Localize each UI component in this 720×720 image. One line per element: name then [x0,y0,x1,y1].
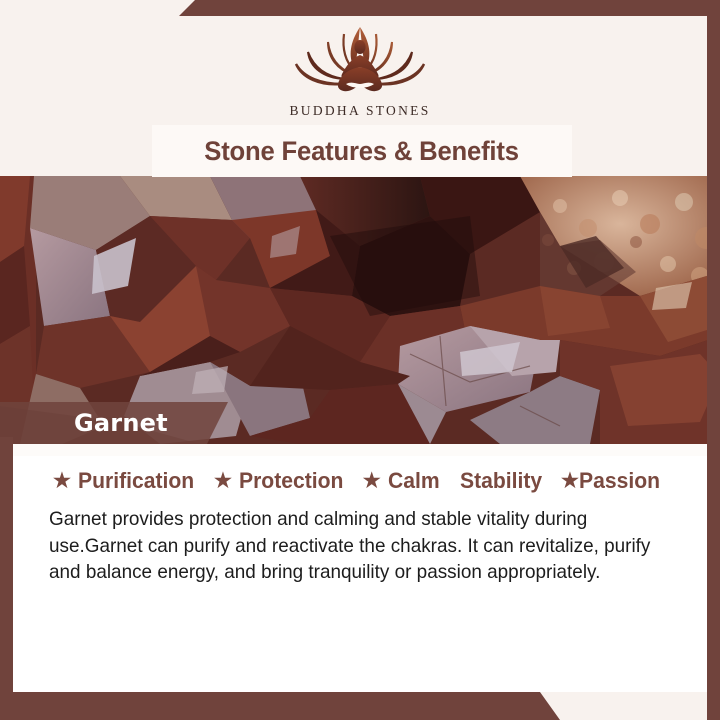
star-icon: ★ [214,471,232,491]
benefit-item: ★Protection [214,468,348,494]
benefit-item: ★Purification [53,468,199,494]
brand-logo: BUDDHA STONES [13,22,707,119]
benefit-label: Calm [388,468,440,494]
star-icon: ★ [561,471,579,491]
stone-name-label: Garnet [74,409,168,437]
benefit-item: ★Passion [561,468,663,494]
description-text: Garnet provides protection and calming a… [49,506,664,586]
infographic-page: Garnet [0,0,720,720]
brand-name: BUDDHA STONES [289,103,430,119]
frame-bottom-band [0,692,720,720]
benefit-label: Protection [239,468,343,494]
lotus-meditation-icon [284,22,436,100]
benefit-item: Stability [460,468,546,494]
frame-right-band [707,0,720,720]
page-title: Stone Features & Benefits [205,136,520,167]
frame-top-band [0,0,720,16]
stone-name-banner: Garnet [0,402,228,444]
star-icon: ★ [53,471,71,491]
benefits-list: ★Purification★Protection★CalmStability★P… [53,468,689,494]
benefit-label: Purification [78,468,194,494]
benefit-label: Passion [579,468,660,494]
benefit-item: ★Calm [363,468,442,494]
star-icon: ★ [363,471,381,491]
benefit-label: Stability [460,468,542,494]
content-panel: ★Purification★Protection★CalmStability★P… [13,444,707,692]
title-banner: Stone Features & Benefits [152,125,572,177]
frame-left-band [0,437,13,720]
